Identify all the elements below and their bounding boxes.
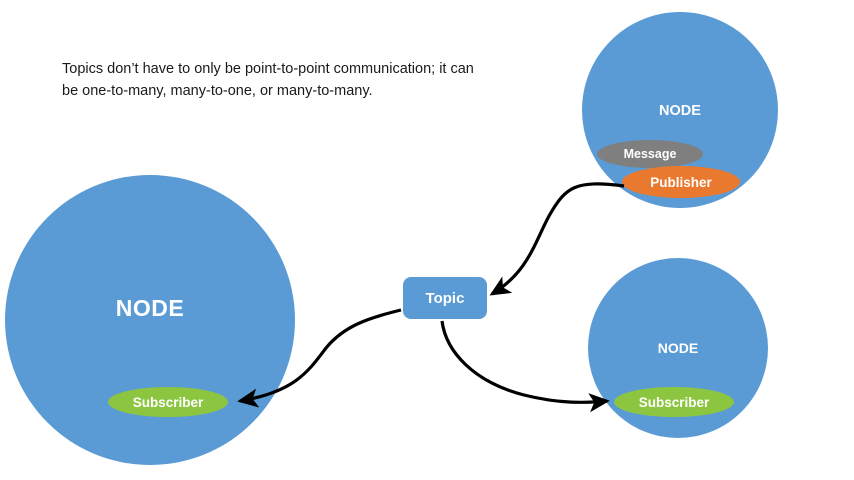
- arrow-publisher-to-topic: [492, 184, 624, 294]
- caption-text: Topics don’t have to only be point-to-po…: [62, 58, 482, 103]
- node-top-right-label: NODE: [582, 103, 778, 119]
- node-left-subscriber-pill[interactable]: Subscriber: [108, 387, 228, 417]
- node-top-right-message-pill[interactable]: Message: [597, 140, 703, 168]
- node-left-label: NODE: [5, 295, 295, 322]
- node-bottom-right-subscriber-pill[interactable]: Subscriber: [614, 387, 734, 417]
- arrow-topic-to-right-subscriber: [442, 321, 607, 402]
- node-top-right-publisher-pill[interactable]: Publisher: [622, 166, 740, 198]
- topic-box[interactable]: Topic: [403, 277, 487, 319]
- node-bottom-right-label: NODE: [588, 340, 768, 356]
- diagram-canvas: Topics don’t have to only be point-to-po…: [0, 0, 854, 480]
